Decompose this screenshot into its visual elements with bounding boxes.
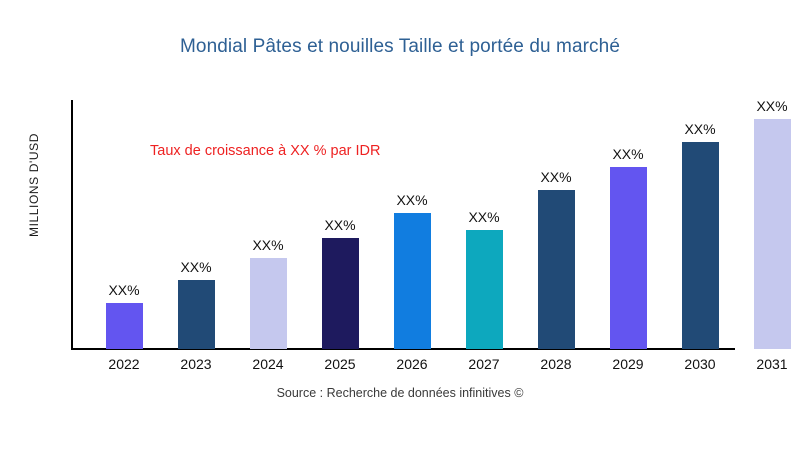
bar-2026[interactable] — [394, 213, 431, 349]
bar-2022[interactable] — [106, 303, 143, 349]
x-tick-2028: 2028 — [520, 356, 592, 372]
bar-value-label-2028: XX% — [520, 169, 592, 185]
bar-value-label-2026: XX% — [376, 192, 448, 208]
bar-group: XX% — [160, 89, 232, 349]
bar-value-label-2029: XX% — [592, 146, 664, 162]
chart-container: Mondial Pâtes et nouilles Taille et port… — [0, 0, 800, 450]
bar-2025[interactable] — [322, 238, 359, 349]
bar-value-label-2023: XX% — [160, 259, 232, 275]
bar-value-label-2025: XX% — [304, 217, 376, 233]
source-caption: Source : Recherche de données infinitive… — [0, 386, 800, 400]
bar-2023[interactable] — [178, 280, 215, 349]
bar-value-label-2030: XX% — [664, 121, 736, 137]
bar-group: XX% — [664, 89, 736, 349]
x-tick-2026: 2026 — [376, 356, 448, 372]
bar-group: XX% — [736, 89, 800, 349]
bar-group: XX% — [376, 89, 448, 349]
x-tick-2022: 2022 — [88, 356, 160, 372]
x-tick-2029: 2029 — [592, 356, 664, 372]
bar-2030[interactable] — [682, 142, 719, 349]
bar-group: XX% — [592, 89, 664, 349]
x-tick-2027: 2027 — [448, 356, 520, 372]
bar-2027[interactable] — [466, 230, 503, 349]
bar-group: XX% — [304, 89, 376, 349]
bar-group: XX% — [88, 89, 160, 349]
x-tick-2023: 2023 — [160, 356, 232, 372]
bar-2024[interactable] — [250, 258, 287, 349]
bar-2031[interactable] — [754, 119, 791, 349]
x-tick-2024: 2024 — [232, 356, 304, 372]
plot-area: XX%2022XX%2023XX%2024XX%2025XX%2026XX%20… — [0, 0, 800, 450]
bar-value-label-2027: XX% — [448, 209, 520, 225]
x-tick-2031: 2031 — [736, 356, 800, 372]
bar-value-label-2024: XX% — [232, 237, 304, 253]
x-tick-2025: 2025 — [304, 356, 376, 372]
bar-group: XX% — [448, 89, 520, 349]
bar-2029[interactable] — [610, 167, 647, 349]
bar-group: XX% — [520, 89, 592, 349]
bar-2028[interactable] — [538, 190, 575, 349]
x-tick-2030: 2030 — [664, 356, 736, 372]
bar-value-label-2022: XX% — [88, 282, 160, 298]
bar-value-label-2031: XX% — [736, 98, 800, 114]
bar-group: XX% — [232, 89, 304, 349]
